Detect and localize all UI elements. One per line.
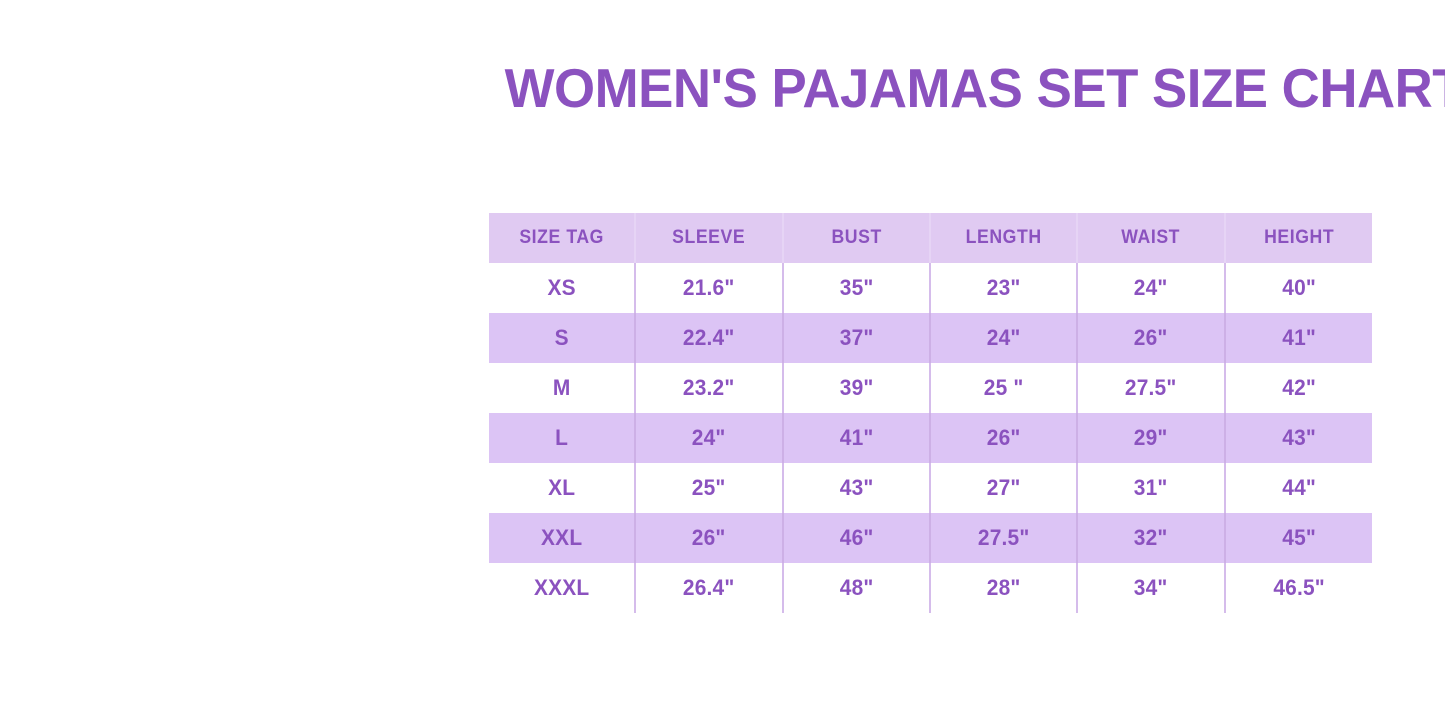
size-chart-page: WOMEN'S PAJAMAS SET SIZE CHART SIZE TAG … [0, 0, 1445, 723]
cell-length: 25 " [934, 363, 1074, 413]
table-row: XL 25" 43" 27" 31" 44" [488, 463, 1372, 513]
column-header-waist: WAIST [1082, 213, 1219, 263]
table-row: XS 21.6" 35" 23" 24" 40" [488, 263, 1372, 313]
cell-length: 27" [934, 463, 1074, 513]
cell-sleeve: 21.6" [639, 263, 779, 313]
column-header-sleeve: SLEEVE [640, 213, 777, 263]
cell-height: 45" [1228, 513, 1368, 563]
cell-size-tag: XL [492, 463, 632, 513]
cell-waist: 26" [1081, 313, 1221, 363]
table-body: XS 21.6" 35" 23" 24" 40" S 22.4" 37" 24"… [488, 263, 1372, 613]
cell-length: 26" [934, 413, 1074, 463]
cell-height: 40" [1228, 263, 1368, 313]
table-header: SIZE TAG SLEEVE BUST LENGTH WAIST HEIGHT [488, 213, 1372, 263]
cell-size-tag: L [492, 413, 632, 463]
cell-height: 46.5" [1228, 563, 1368, 613]
cell-size-tag: XXXL [492, 563, 632, 613]
table-row: L 24" 41" 26" 29" 43" [488, 413, 1372, 463]
cell-length: 27.5" [934, 513, 1074, 563]
cell-waist: 29" [1081, 413, 1221, 463]
cell-length: 23" [934, 263, 1074, 313]
cell-sleeve: 23.2" [639, 363, 779, 413]
cell-waist: 34" [1081, 563, 1221, 613]
cell-sleeve: 24" [639, 413, 779, 463]
cell-sleeve: 22.4" [639, 313, 779, 363]
cell-size-tag: S [492, 313, 632, 363]
cell-size-tag: XXL [492, 513, 632, 563]
column-header-bust: BUST [788, 213, 925, 263]
header-row: SIZE TAG SLEEVE BUST LENGTH WAIST HEIGHT [488, 213, 1372, 263]
cell-bust: 41" [786, 413, 926, 463]
cell-bust: 43" [786, 463, 926, 513]
page-title: WOMEN'S PAJAMAS SET SIZE CHART [505, 55, 1354, 121]
cell-height: 44" [1228, 463, 1368, 513]
cell-bust: 48" [786, 563, 926, 613]
size-chart-table: SIZE TAG SLEEVE BUST LENGTH WAIST HEIGHT… [487, 213, 1372, 613]
cell-size-tag: M [492, 363, 632, 413]
cell-waist: 31" [1081, 463, 1221, 513]
table-row: S 22.4" 37" 24" 26" 41" [488, 313, 1372, 363]
cell-height: 41" [1228, 313, 1368, 363]
cell-sleeve: 26" [639, 513, 779, 563]
cell-bust: 37" [786, 313, 926, 363]
cell-length: 28" [934, 563, 1074, 613]
table-row: M 23.2" 39" 25 " 27.5" 42" [488, 363, 1372, 413]
table-row: XXXL 26.4" 48" 28" 34" 46.5" [488, 563, 1372, 613]
cell-waist: 27.5" [1081, 363, 1221, 413]
cell-waist: 32" [1081, 513, 1221, 563]
cell-bust: 39" [786, 363, 926, 413]
cell-height: 43" [1228, 413, 1368, 463]
cell-bust: 46" [786, 513, 926, 563]
cell-sleeve: 25" [639, 463, 779, 513]
column-header-size-tag: SIZE TAG [493, 213, 630, 263]
cell-height: 42" [1228, 363, 1368, 413]
cell-waist: 24" [1081, 263, 1221, 313]
column-header-height: HEIGHT [1230, 213, 1367, 263]
table-row: XXL 26" 46" 27.5" 32" 45" [488, 513, 1372, 563]
column-header-length: LENGTH [935, 213, 1072, 263]
cell-sleeve: 26.4" [639, 563, 779, 613]
cell-length: 24" [934, 313, 1074, 363]
cell-bust: 35" [786, 263, 926, 313]
cell-size-tag: XS [492, 263, 632, 313]
